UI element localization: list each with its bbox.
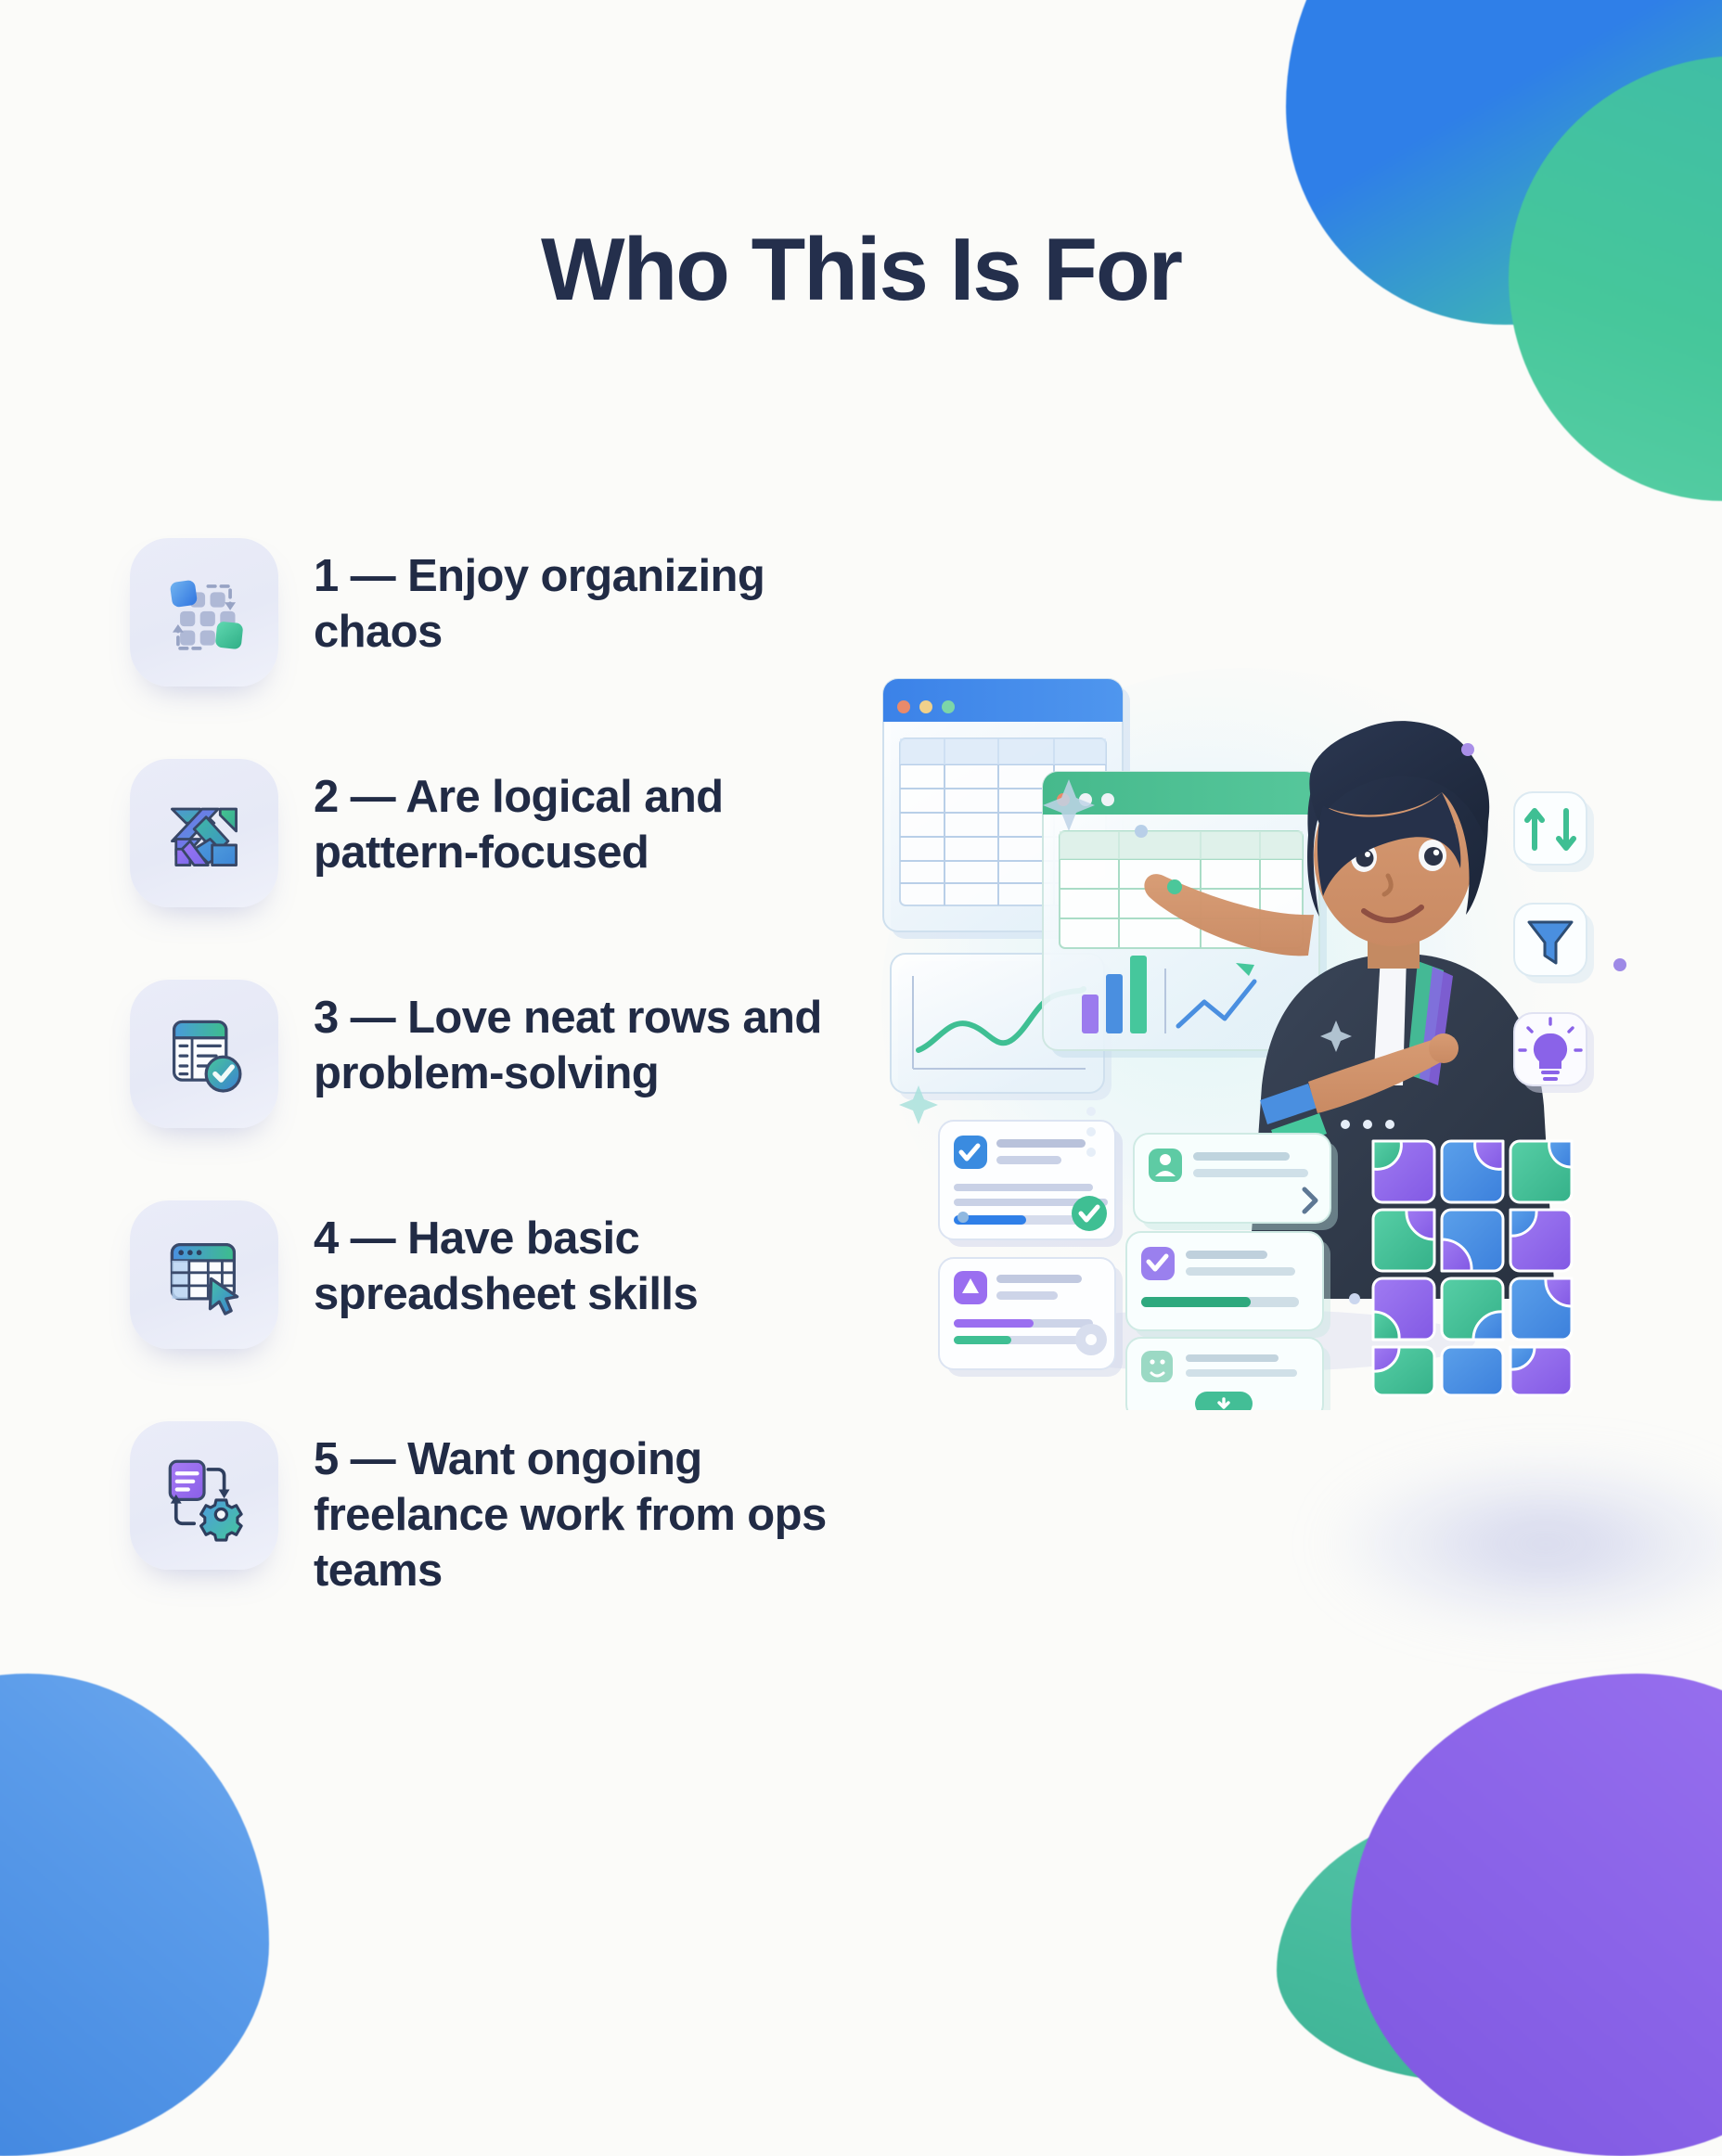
list-item: 1 — Enjoy organizing chaos [130,538,900,687]
task-card-check-purple [1126,1232,1330,1338]
feature-icon-tile [130,980,278,1128]
decor-blob-bottom-right-purple [1351,1674,1722,2156]
feature-text: 4 — Have basic spreadsheet skills [314,1200,900,1323]
list-item: 3 — Love neat rows and problem-solving [130,980,900,1128]
isometric-puzzle-blocks [1373,1141,1572,1395]
feature-text: 5 — Want ongoing freelance work from ops… [314,1421,900,1598]
feature-icon-tile [130,759,278,907]
feature-icon-tile [130,1421,278,1570]
task-card-check-blue [939,1121,1123,1247]
feature-text: 1 — Enjoy organizing chaos [314,538,900,661]
task-card-alert-purple [939,1258,1123,1377]
spreadsheet-cursor-icon [154,1225,254,1325]
filter-funnel-tool-chip [1514,904,1594,983]
sort-arrows-tool-chip [1514,792,1594,872]
decor-blob-bottom-left-blue [0,1674,269,2156]
list-item: 2 — Are logical and pattern-focused [130,759,900,907]
list-item: 4 — Have basic spreadsheet skills [130,1200,900,1349]
feature-text: 3 — Love neat rows and problem-solving [314,980,900,1102]
task-card-face-green [1126,1338,1330,1410]
rearrange-grid-icon [154,562,254,662]
page-title: Who This Is For [0,219,1722,321]
document-gear-automation-icon [154,1445,254,1546]
feature-icon-tile [130,1200,278,1349]
checklist-document-icon [154,1004,254,1104]
lightbulb-tool-chip [1514,1013,1594,1093]
interlocking-pattern-icon [154,783,254,883]
feature-text: 2 — Are logical and pattern-focused [314,759,900,881]
data-analyst-illustration [872,649,1670,1410]
feature-icon-tile [130,538,278,687]
feature-list: 1 — Enjoy organizing chaos [130,538,900,1671]
list-item: 5 — Want ongoing freelance work from ops… [130,1421,900,1598]
task-card-person-green [1134,1134,1338,1230]
decor-haze-bottom-right [1332,1460,1722,1627]
